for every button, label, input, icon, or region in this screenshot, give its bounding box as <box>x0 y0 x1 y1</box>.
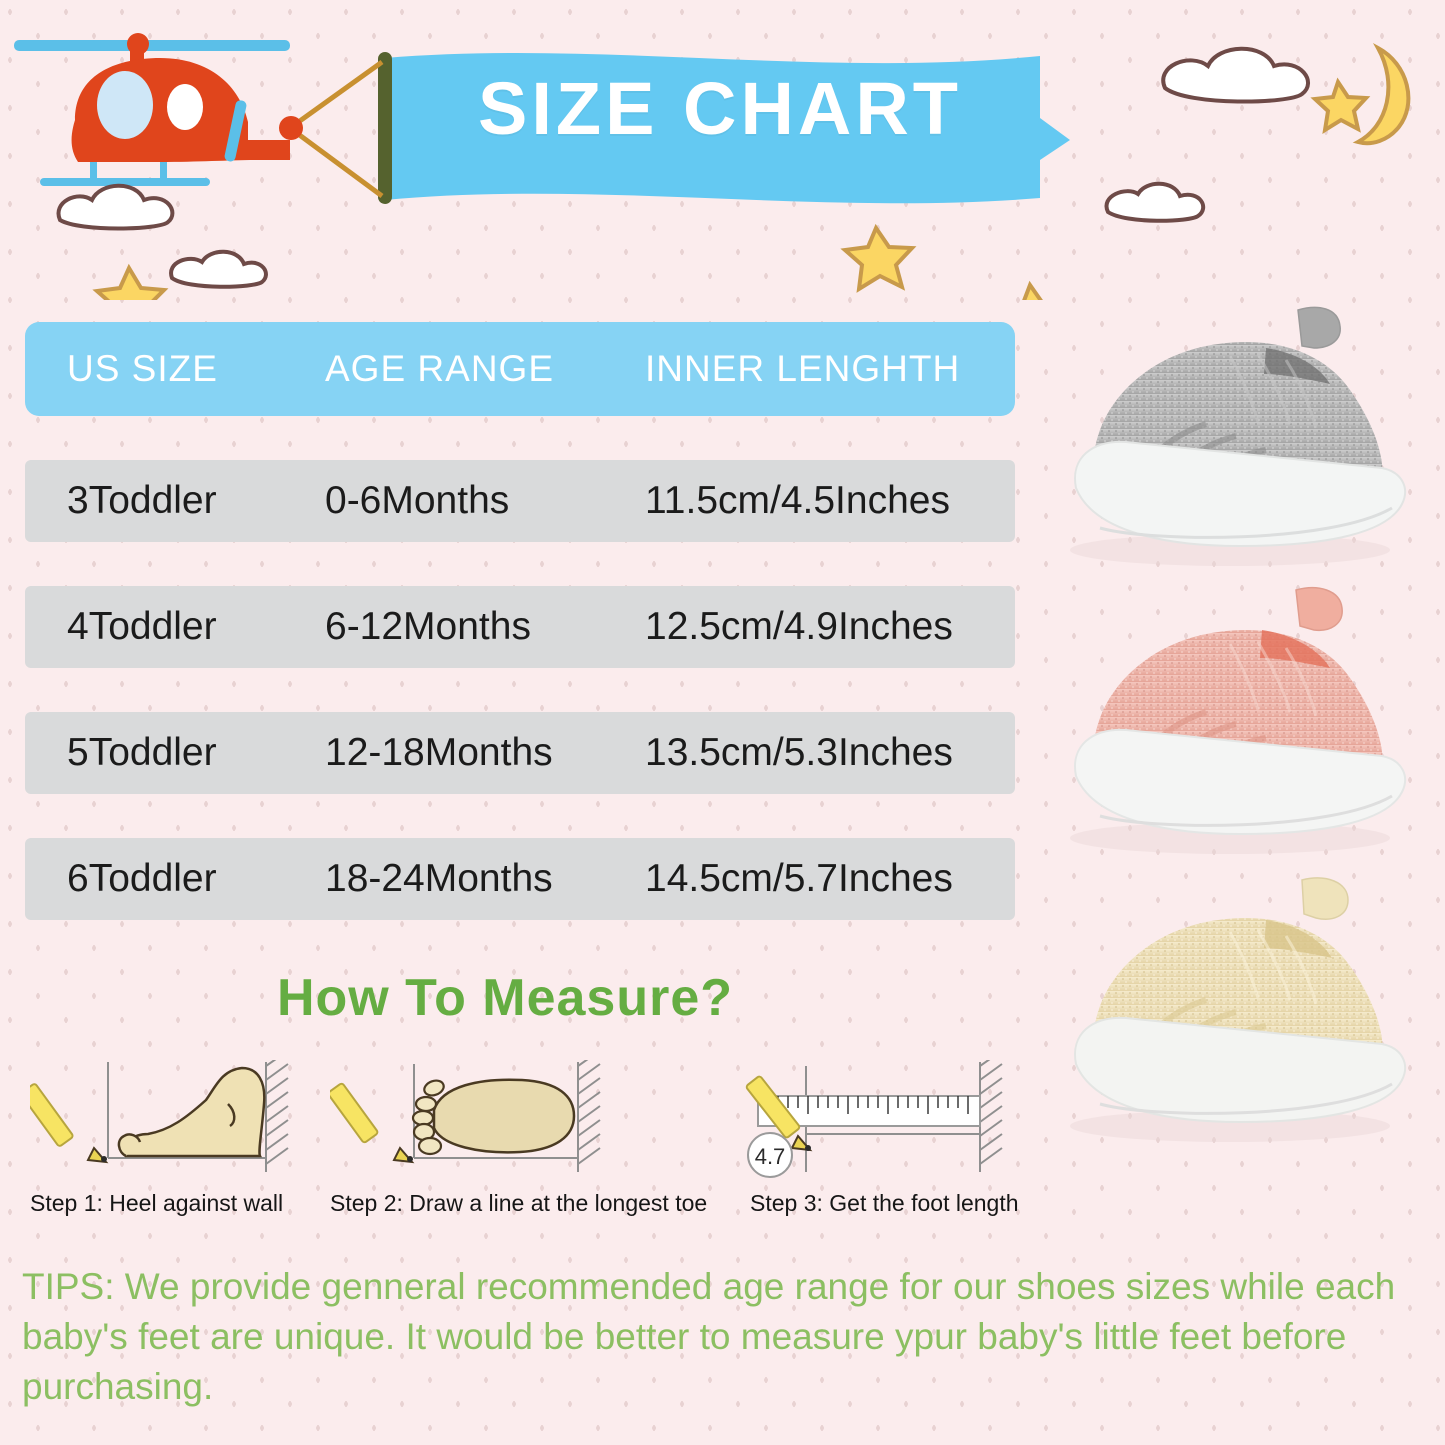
star-icon <box>1315 82 1366 130</box>
foot-top-pencil-icon <box>330 1060 630 1180</box>
header-banner: SIZE CHART <box>0 0 1445 300</box>
table-row: 3Toddler 0-6Months 11.5cm/4.5Inches <box>25 460 1015 542</box>
pencil-icon <box>30 1083 107 1162</box>
heel-pull-tab <box>1296 588 1342 631</box>
heel-pull-tab <box>1302 878 1348 919</box>
helicopter-icon <box>14 33 303 186</box>
star-icon <box>845 228 912 289</box>
size-chart-table: US SIZE AGE RANGE INNER LENGHTH 3Toddler… <box>25 322 1015 920</box>
shoe-image-beige <box>1030 858 1430 1163</box>
measure-step-3: 4.7 Step 3: Get the foot length <box>740 1060 1040 1185</box>
table-header-row: US SIZE AGE RANGE INNER LENGHTH <box>25 322 1015 416</box>
cell-age-range: 6-12Months <box>325 605 645 649</box>
step-3-caption: Step 3: Get the foot length <box>750 1190 1019 1217</box>
tow-rope <box>290 128 382 196</box>
step-1-caption: Step 1: Heel against wall <box>30 1190 283 1217</box>
foot-length-reading: 4.7 <box>755 1144 786 1169</box>
header-graphics <box>0 0 1445 300</box>
cell-age-range: 18-24Months <box>325 857 645 901</box>
cell-us-size: 3Toddler <box>25 479 325 523</box>
cell-inner-length: 14.5cm/5.7Inches <box>645 857 1015 901</box>
measure-step-1: Step 1: Heel against wall <box>30 1060 320 1185</box>
tips-paragraph: TIPS: We provide genneral recommended ag… <box>22 1262 1422 1412</box>
pencil-icon <box>330 1083 413 1162</box>
tow-rope <box>290 62 382 128</box>
cell-inner-length: 13.5cm/5.3Inches <box>645 731 1015 775</box>
step-2-caption: Step 2: Draw a line at the longest toe <box>330 1190 707 1217</box>
table-row: 6Toddler 18-24Months 14.5cm/5.7Inches <box>25 838 1015 920</box>
how-to-measure-heading: How To Measure? <box>0 968 1010 1028</box>
star-icon <box>97 268 164 300</box>
table-row: 4Toddler 6-12Months 12.5cm/4.9Inches <box>25 586 1015 668</box>
cell-age-range: 0-6Months <box>325 479 645 523</box>
foot-side-pencil-icon <box>30 1060 320 1180</box>
cell-us-size: 6Toddler <box>25 857 325 901</box>
cloud-icon <box>59 186 173 229</box>
cloud-icon <box>1163 49 1308 102</box>
column-header-age-range: AGE RANGE <box>325 348 645 390</box>
column-header-us-size: US SIZE <box>25 348 325 390</box>
cell-us-size: 4Toddler <box>25 605 325 649</box>
ruler-pencil-icon: 4.7 <box>740 1060 1040 1180</box>
shoe-image-pink <box>1030 570 1430 875</box>
page-title: SIZE CHART <box>430 72 1010 146</box>
column-header-inner-length: INNER LENGHTH <box>645 348 1015 390</box>
cell-inner-length: 11.5cm/4.5Inches <box>645 479 1015 523</box>
cell-age-range: 12-18Months <box>325 731 645 775</box>
moon-icon <box>1358 48 1408 143</box>
cell-us-size: 5Toddler <box>25 731 325 775</box>
banner-pole <box>378 52 392 204</box>
cell-inner-length: 12.5cm/4.9Inches <box>645 605 1015 649</box>
heel-pull-tab <box>1298 307 1340 348</box>
table-row: 5Toddler 12-18Months 13.5cm/5.3Inches <box>25 712 1015 794</box>
measure-steps: Step 1: Heel against wall <box>0 1060 1050 1230</box>
shoe-image-gray <box>1030 282 1430 587</box>
cloud-icon <box>1106 184 1203 221</box>
measure-step-2: Step 2: Draw a line at the longest toe <box>330 1060 630 1185</box>
cloud-icon <box>171 252 266 287</box>
